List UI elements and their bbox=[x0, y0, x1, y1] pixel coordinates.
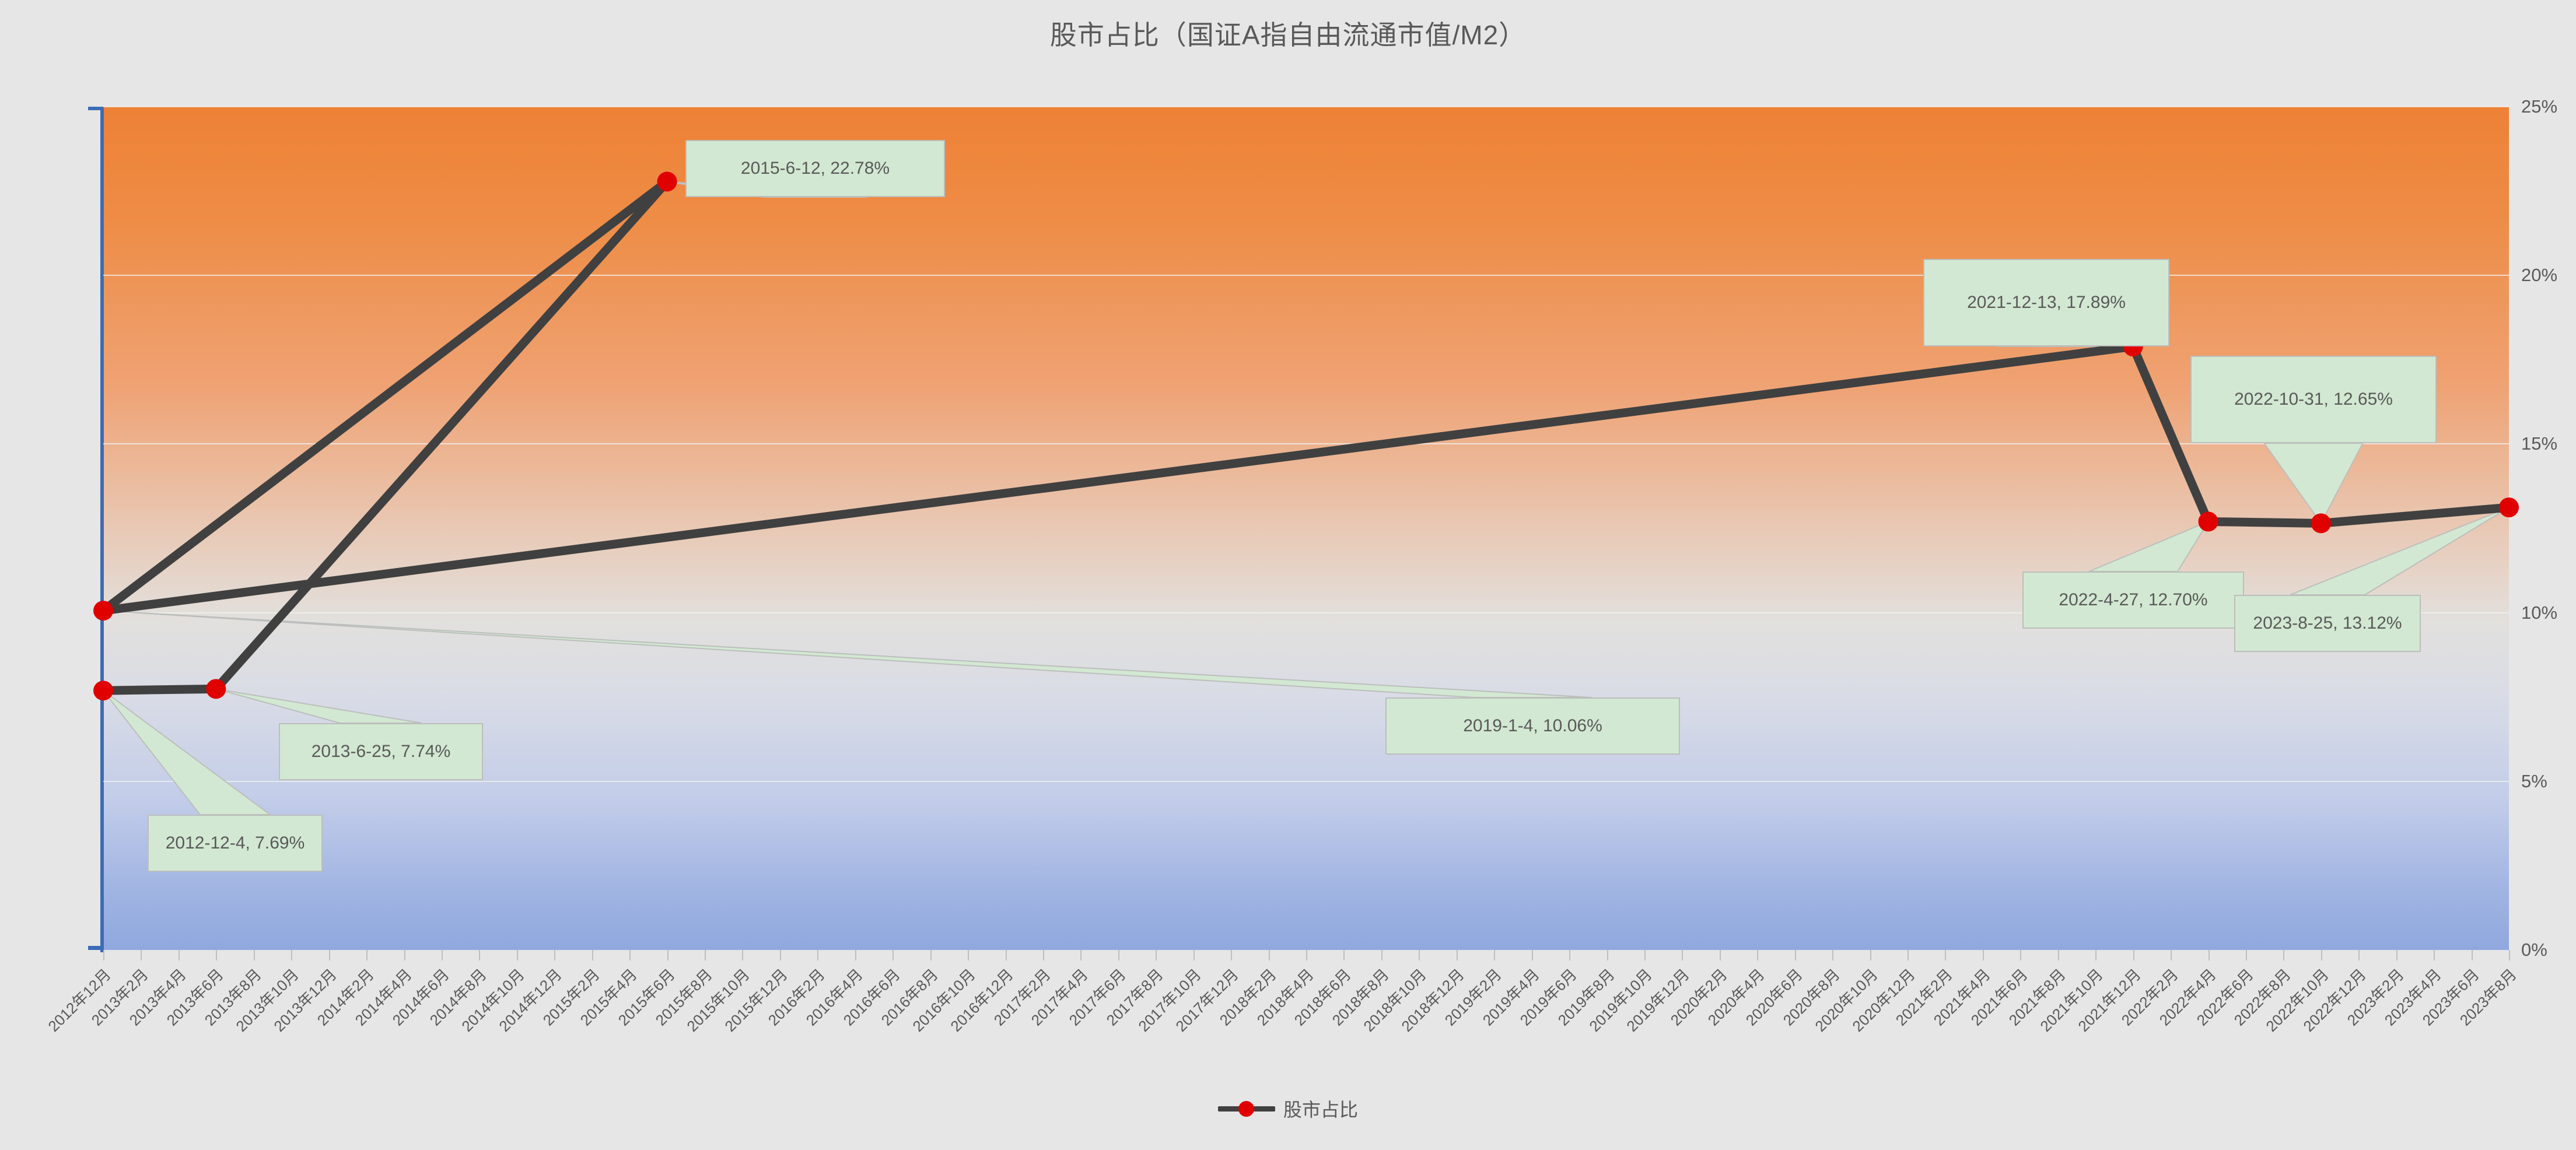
x-axis-tick bbox=[141, 950, 142, 960]
x-axis-tick bbox=[705, 950, 706, 960]
x-axis-tick bbox=[291, 950, 292, 960]
data-label-text: 2021-12-13, 17.89% bbox=[1967, 293, 2126, 313]
x-axis-tick bbox=[216, 950, 217, 960]
x-axis-tick bbox=[1381, 950, 1382, 960]
x-axis-tick bbox=[1532, 950, 1533, 960]
x-axis-tick bbox=[479, 950, 480, 960]
x-axis-tick bbox=[2171, 950, 2172, 960]
x-axis-tick bbox=[780, 950, 781, 960]
gridline bbox=[103, 106, 2509, 107]
x-axis-tick bbox=[1419, 950, 1420, 960]
y-axis-tick-label: 10% bbox=[2521, 602, 2574, 623]
x-axis-tick bbox=[2358, 950, 2360, 960]
x-axis-tick bbox=[2246, 950, 2247, 960]
legend-symbol bbox=[1218, 1100, 1275, 1117]
x-axis-tick bbox=[2095, 950, 2096, 960]
data-label-text: 2012-12-4, 7.69% bbox=[166, 833, 305, 853]
x-axis-tick bbox=[2133, 950, 2134, 960]
x-axis-tick bbox=[1682, 950, 1683, 960]
gridline bbox=[103, 443, 2509, 444]
x-axis-tick bbox=[2396, 950, 2397, 960]
data-label-callout[interactable]: 2015-6-12, 22.78% bbox=[685, 140, 945, 197]
data-label-text: 2023-8-25, 13.12% bbox=[2253, 613, 2402, 633]
x-axis-tick bbox=[1795, 950, 1796, 960]
x-axis-tick bbox=[629, 950, 631, 960]
y-axis-tick-label: 20% bbox=[2521, 265, 2574, 286]
x-axis-tick bbox=[930, 950, 932, 960]
legend-marker-icon bbox=[1238, 1101, 1254, 1117]
y-axis-cap-bottom bbox=[88, 946, 104, 950]
x-axis-tick bbox=[1644, 950, 1646, 960]
x-axis-tick bbox=[1006, 950, 1007, 960]
x-axis-tick bbox=[1457, 950, 1458, 960]
data-label-text: 2022-10-31, 12.65% bbox=[2234, 390, 2393, 409]
chart-container: 股市占比（国证A指自由流通市值/M2） 0%5%10%15%20%25% 201… bbox=[0, 0, 2576, 1150]
x-axis-tick bbox=[254, 950, 255, 960]
y-axis-tick-label: 25% bbox=[2521, 96, 2574, 117]
data-label-callout[interactable]: 2023-8-25, 13.12% bbox=[2234, 595, 2421, 652]
x-axis-tick bbox=[2434, 950, 2435, 960]
x-axis-tick bbox=[329, 950, 330, 960]
data-label-callout[interactable]: 2013-6-25, 7.74% bbox=[279, 723, 483, 780]
x-axis-tick bbox=[1983, 950, 1984, 960]
x-axis-tick bbox=[2283, 950, 2284, 960]
plot-area bbox=[103, 107, 2509, 950]
gridline bbox=[103, 781, 2509, 782]
x-axis-tick bbox=[2321, 950, 2322, 960]
x-axis-tick bbox=[1757, 950, 1758, 960]
x-axis-tick bbox=[968, 950, 969, 960]
x-axis-tick bbox=[817, 950, 818, 960]
x-axis-ticks bbox=[103, 950, 2509, 960]
x-axis-tick bbox=[2208, 950, 2210, 960]
data-label-text: 2013-6-25, 7.74% bbox=[311, 742, 451, 762]
x-axis-tick bbox=[1156, 950, 1157, 960]
x-axis-tick bbox=[1945, 950, 1946, 960]
x-axis-tick bbox=[1870, 950, 1871, 960]
chart-title: 股市占比（国证A指自由流通市值/M2） bbox=[0, 14, 2576, 52]
x-axis-tick bbox=[1343, 950, 1345, 960]
x-axis-tick bbox=[442, 950, 443, 960]
x-axis-tick bbox=[1269, 950, 1270, 960]
x-axis-tick-labels: 2012年12月2013年2月2013年4月2013年6月2013年8月2013… bbox=[103, 963, 2509, 1115]
y-axis-line bbox=[100, 107, 104, 952]
x-axis-tick bbox=[1080, 950, 1081, 960]
x-axis-tick bbox=[742, 950, 743, 960]
x-axis-tick bbox=[1231, 950, 1232, 960]
data-label-callout[interactable]: 2022-10-31, 12.65% bbox=[2190, 356, 2437, 443]
x-axis-tick bbox=[1306, 950, 1307, 960]
x-axis-tick bbox=[1043, 950, 1044, 960]
x-axis-tick bbox=[1118, 950, 1119, 960]
data-label-callout[interactable]: 2012-12-4, 7.69% bbox=[148, 815, 323, 872]
x-axis-tick bbox=[592, 950, 593, 960]
data-label-callout[interactable]: 2022-4-27, 12.70% bbox=[2022, 572, 2244, 629]
x-axis-tick bbox=[366, 950, 367, 960]
x-axis-tick bbox=[404, 950, 405, 960]
x-axis-tick bbox=[1193, 950, 1195, 960]
x-axis-tick bbox=[1607, 950, 1608, 960]
x-axis-tick bbox=[1832, 950, 1833, 960]
y-axis-tick-label: 0% bbox=[2521, 939, 2574, 960]
x-axis-tick bbox=[2020, 950, 2021, 960]
x-axis-tick bbox=[2509, 950, 2510, 960]
x-axis-tick bbox=[103, 950, 104, 960]
x-axis-tick bbox=[554, 950, 555, 960]
y-axis-cap-top bbox=[88, 107, 104, 110]
chart-legend: 股市占比 bbox=[0, 1095, 2576, 1122]
x-axis-tick bbox=[1569, 950, 1570, 960]
y-axis-tick-label: 5% bbox=[2521, 771, 2574, 792]
data-label-text: 2022-4-27, 12.70% bbox=[2059, 590, 2207, 610]
data-label-callout[interactable]: 2021-12-13, 17.89% bbox=[1923, 259, 2169, 346]
x-axis-tick bbox=[667, 950, 668, 960]
x-axis-tick bbox=[1494, 950, 1495, 960]
data-label-text: 2015-6-12, 22.78% bbox=[741, 159, 890, 178]
x-axis-tick bbox=[2472, 950, 2473, 960]
y-axis-tick-label: 15% bbox=[2521, 433, 2574, 454]
x-axis-tick bbox=[855, 950, 856, 960]
data-label-callout[interactable]: 2019-1-4, 10.06% bbox=[1385, 697, 1680, 755]
data-label-text: 2019-1-4, 10.06% bbox=[1463, 716, 1602, 736]
x-axis-tick bbox=[178, 950, 180, 960]
x-axis-tick bbox=[1720, 950, 1721, 960]
x-axis-tick bbox=[1908, 950, 1909, 960]
x-axis-tick bbox=[892, 950, 894, 960]
legend-label: 股市占比 bbox=[1283, 1095, 1358, 1122]
x-axis-tick bbox=[2058, 950, 2059, 960]
x-axis-tick bbox=[517, 950, 518, 960]
